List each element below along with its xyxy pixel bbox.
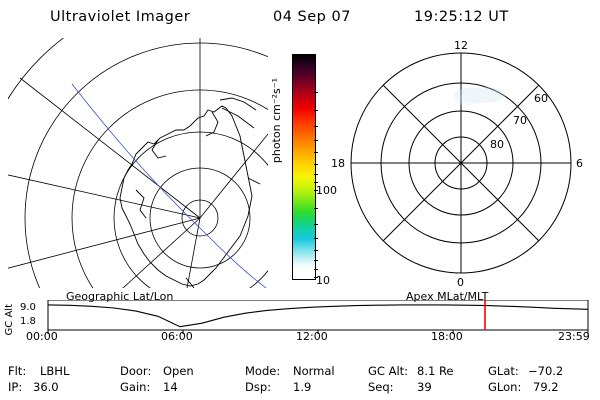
mode-label: Mode: [245, 364, 280, 378]
strip-xtick-2: 12:00 [296, 330, 328, 343]
meridian-1 [20, 78, 200, 218]
colorbar-gradient [292, 54, 316, 280]
seq-value: 39 [417, 380, 432, 394]
dsp-label: Dsp: [245, 380, 271, 394]
glon-value: 79.2 [533, 380, 559, 394]
seq-label: Seq: [368, 380, 394, 394]
ip-label: IP: [8, 380, 22, 394]
geographic-map-svg [8, 38, 268, 288]
header: Ultraviolet Imager 04 Sep 07 19:25:12 UT [0, 6, 600, 30]
strip-xtick-1: 06:00 [161, 330, 193, 343]
colorbar-axis-label: photon cm⁻²s⁻¹ [270, 78, 283, 163]
colorbar-tick-10: 10 [316, 274, 330, 287]
gcalt-value: 8.1 Re [417, 364, 454, 378]
mlt-label-0: 0 [457, 276, 464, 288]
gc-alt-trace [48, 305, 588, 327]
mlt-label-18: 18 [331, 157, 345, 170]
lat-circle-40 [25, 43, 268, 288]
status-footer: Flt: LBHL IP: 36.0 Door: Open Gain: 14 M… [0, 364, 600, 400]
meridian-6 [200, 134, 268, 218]
gain-value: 14 [163, 380, 178, 394]
gcalt-label: GC Alt: [368, 364, 408, 378]
ip-value: 36.0 [33, 380, 59, 394]
apex-mlat-mlt-panel: 12 18 6 0 60 70 80 [330, 38, 592, 288]
colorbar: photon cm⁻²s⁻¹ 100 10 [272, 48, 328, 288]
uvi-screenshot: Ultraviolet Imager 04 Sep 07 19:25:12 UT [0, 0, 600, 400]
aurora-emission-patch [453, 87, 506, 105]
glon-label: GLon: [488, 380, 521, 394]
observation-time: 19:25:12 UT [414, 9, 509, 25]
mode-value: Normal [293, 364, 335, 378]
gain-label: Gain: [120, 380, 150, 394]
flt-label: Flt: [8, 364, 26, 378]
strip-xtick-3: 18:00 [431, 330, 463, 343]
observation-date: 04 Sep 07 [273, 9, 351, 25]
apex-dial-svg: 12 18 6 0 60 70 80 [330, 38, 592, 288]
door-label: Door: [120, 364, 151, 378]
meridian-3 [8, 218, 200, 276]
geographic-map-panel [8, 38, 268, 288]
dsp-value: 1.9 [293, 380, 311, 394]
instrument-title: Ultraviolet Imager [50, 9, 190, 25]
strip-xtick-0: 00:00 [26, 330, 58, 343]
meridian-2 [8, 166, 200, 218]
strip-plot-frame [48, 300, 588, 330]
glat-label: GLat: [488, 364, 519, 378]
mlt-label-6: 6 [576, 157, 583, 170]
door-value: Open [163, 364, 194, 378]
gc-alt-strip-chart: Geographic Lat/Lon Apex MLat/MLT GC Alt … [8, 292, 592, 340]
mlt-label-12: 12 [454, 39, 468, 52]
mlat-label-80: 80 [490, 138, 504, 151]
mlat-label-70: 70 [513, 114, 527, 127]
meridian-4 [68, 218, 200, 288]
coastline-outline [120, 98, 260, 288]
flt-value: LBHL [40, 364, 69, 378]
strip-xtick-4: 23:59 [558, 330, 590, 343]
glat-value: −70.2 [528, 364, 563, 378]
mlat-label-60: 60 [534, 92, 548, 105]
